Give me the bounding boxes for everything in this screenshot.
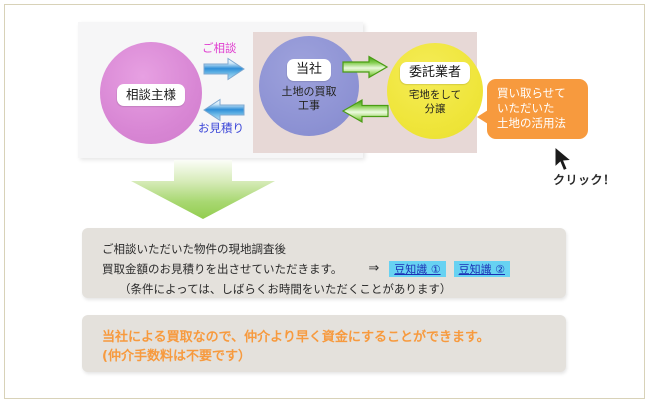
survey-line-1: ご相談いただいた物件の現地調査後 [102, 239, 566, 259]
callout-land-usage[interactable]: 買い取らせて いただいた 土地の活用法 [487, 79, 588, 139]
node-customer: 相談主様 [100, 42, 202, 144]
benefit-line-2: (仲介手数料は不要です） [102, 347, 566, 366]
survey-line-3: （条件によっては、しばらくお時間をいただくことがあります） [102, 279, 566, 299]
link-tips-2[interactable]: 豆知識 ② [454, 261, 510, 277]
flow-label-quote: お見積り [198, 121, 244, 135]
survey-info-box: ご相談いただいた物件の現地調査後 買取金額のお見積りを出させていただきます。 ⇒… [82, 228, 566, 298]
arrow-left-blue-icon [200, 98, 246, 122]
node-contractor-label: 委託業者 [400, 62, 470, 84]
benefit-line-1: 当社による買取なので、仲介より早く資金にすることができます。 [102, 328, 566, 347]
flow-label-request: ご相談 [202, 41, 237, 55]
node-contractor-sub-line1: 宅地をして [409, 89, 461, 101]
benefit-info-box: 当社による買取なので、仲介より早く資金にすることができます。 (仲介手数料は不要… [82, 315, 566, 372]
callout-line-1: 買い取らせて [497, 86, 588, 101]
double-arrow-right-icon: ⇒ [368, 259, 379, 279]
click-hint-label: クリック！ [553, 171, 616, 188]
node-customer-label: 相談主様 [117, 84, 185, 106]
mouse-cursor-icon [553, 146, 575, 174]
arrow-right-blue-icon [202, 57, 246, 81]
node-company-sub-line2: 工事 [298, 99, 320, 112]
node-company-sub-line1: 土地の買取 [282, 85, 337, 98]
callout-tail-icon [477, 110, 488, 124]
node-contractor: 委託業者 宅地をして 分譲 [387, 43, 483, 139]
arrow-left-green-icon [340, 98, 390, 124]
callout-line-2: いただいた [497, 101, 588, 116]
node-contractor-sub-line2: 分譲 [425, 103, 446, 115]
arrow-down-green-big-icon [128, 160, 278, 220]
arrow-right-green-icon [341, 55, 389, 79]
node-company-label: 当社 [287, 59, 331, 81]
page-root: 相談主様 当社 土地の買取 工事 委託業者 宅地をして 分譲 ご相談 お見積り [0, 0, 650, 404]
callout-line-3: 土地の活用法 [497, 116, 588, 131]
survey-line-2: 買取金額のお見積りを出させていただきます。 [102, 259, 342, 279]
survey-line-2-row: 買取金額のお見積りを出させていただきます。 ⇒ 豆知識 ① 豆知識 ② [102, 259, 566, 279]
node-contractor-sub: 宅地をして 分譲 [387, 88, 483, 116]
link-tips-1[interactable]: 豆知識 ① [389, 261, 445, 277]
